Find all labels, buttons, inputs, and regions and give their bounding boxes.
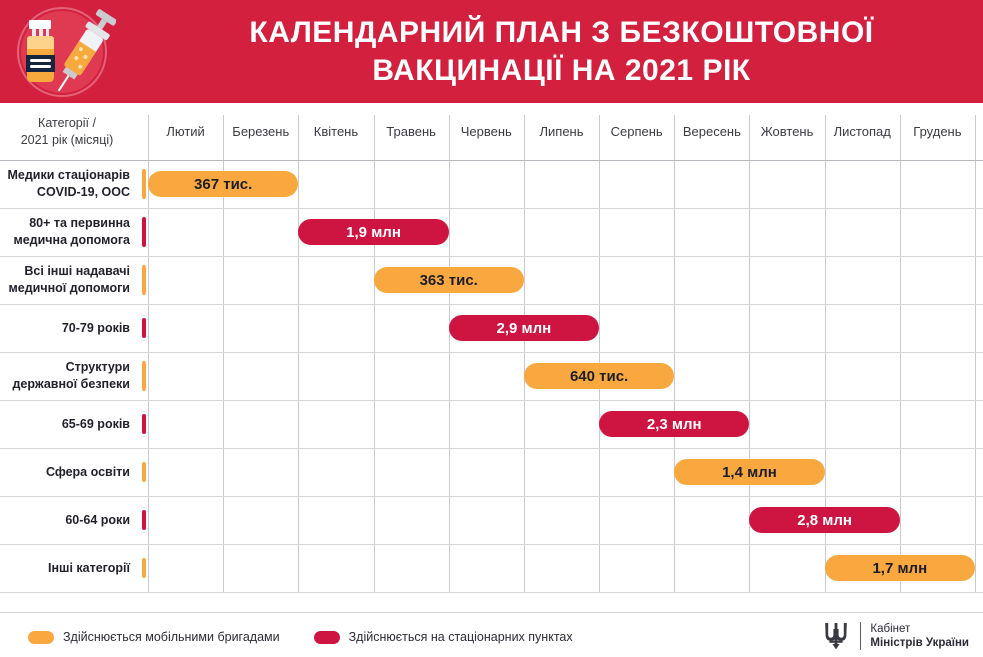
logo-divider <box>860 622 861 650</box>
row-type-marker <box>142 414 146 434</box>
row-type-marker <box>142 217 146 247</box>
row-label: 70-79 років <box>0 304 134 352</box>
table-row: 60-64 роки2,8 млн <box>0 496 983 544</box>
schedule-bar[interactable]: 1,7 млн <box>825 555 975 581</box>
row-label-line-1: 70-79 років <box>62 320 130 337</box>
title-line-1: КАЛЕНДАРНИЙ ПЛАН З БЕЗКОШТОВНОЇ <box>249 15 873 50</box>
table-row: Структуридержавної безпеки640 тис. <box>0 352 983 400</box>
row-label: Сфера освіти <box>0 448 134 496</box>
table-row: 70-79 років2,9 млн <box>0 304 983 352</box>
row-label: 65-69 років <box>0 400 134 448</box>
schedule-bar[interactable]: 1,4 млн <box>674 459 824 485</box>
legend-label-static: Здійснюється на стаціонарних пунктах <box>349 630 573 644</box>
schedule-bar[interactable]: 2,8 млн <box>749 507 899 533</box>
page-title: КАЛЕНДАРНИЙ ПЛАН З БЕЗКОШТОВНОЇ ВАКЦИНАЦ… <box>140 0 983 103</box>
legend-item-static: Здійснюється на стаціонарних пунктах <box>314 630 573 644</box>
row-label-line-1: Інші категорії <box>48 560 130 577</box>
schedule-bar[interactable]: 640 тис. <box>524 363 674 389</box>
table-row: Медики стаціонарівCOVID-19, ООС367 тис. <box>0 160 983 208</box>
column-header-серпень: Серпень <box>599 103 674 160</box>
ukraine-trident-icon <box>821 620 851 652</box>
legend-label-mobile: Здійснюється мобільними бригадами <box>63 630 280 644</box>
legend-swatch-mobile-icon <box>28 631 54 644</box>
row-label: Інші категорії <box>0 544 134 592</box>
row-label-line-1: Всі інші надавачі <box>24 263 130 280</box>
row-label: 80+ та первиннамедична допомога <box>0 208 134 256</box>
column-header-жовтень: Жовтень <box>749 103 824 160</box>
row-type-marker <box>142 361 146 391</box>
row-label-line-1: 65-69 років <box>62 416 130 433</box>
row-label-line-2: COVID-19, ООС <box>37 184 130 201</box>
row-label-line-1: Сфера освіти <box>46 464 130 481</box>
row-type-marker <box>142 558 146 578</box>
infographic-page: КАЛЕНДАРНИЙ ПЛАН З БЕЗКОШТОВНОЇ ВАКЦИНАЦ… <box>0 0 983 657</box>
row-type-marker <box>142 462 146 482</box>
row-label-line-2: державної безпеки <box>12 376 130 393</box>
row-label-line-1: 60-64 роки <box>65 512 130 529</box>
column-header-травень: Травень <box>374 103 449 160</box>
column-header-червень: Червень <box>449 103 524 160</box>
column-header-categories: Категорії /2021 рік (місяці) <box>0 103 134 160</box>
row-label-line-1: Медики стаціонарів <box>7 167 130 184</box>
row-label-line-2: медичної допомоги <box>9 280 130 297</box>
schedule-bar[interactable]: 363 тис. <box>374 267 524 293</box>
row-label-line-1: 80+ та первинна <box>29 215 130 232</box>
table-row: Всі інші надавачімедичної допомоги363 ти… <box>0 256 983 304</box>
gov-logo-line-2: Міністрів України <box>870 636 969 650</box>
table-row: 80+ та первиннамедична допомога1,9 млн <box>0 208 983 256</box>
table-row: Інші категорії1,7 млн <box>0 544 983 592</box>
row-type-marker <box>142 510 146 530</box>
row-label-line-1: Структури <box>66 359 130 376</box>
column-header-лютий: Лютий <box>148 103 223 160</box>
schedule-bar[interactable]: 2,9 млн <box>449 315 599 341</box>
row-type-marker <box>142 169 146 199</box>
legend-swatch-static-icon <box>314 631 340 644</box>
grid-row-separator <box>0 592 983 593</box>
government-logo: Кабінет Міністрів України <box>821 620 969 652</box>
column-header-квітень: Квітень <box>298 103 373 160</box>
row-label: 60-64 роки <box>0 496 134 544</box>
row-label: Структуридержавної безпеки <box>0 352 134 400</box>
row-type-marker <box>142 265 146 295</box>
vaccination-schedule-table: Категорії /2021 рік (місяці)ЛютийБерезен… <box>0 103 983 608</box>
title-line-2: ВАКЦИНАЦІЇ НА 2021 РІК <box>372 53 750 88</box>
schedule-bar[interactable]: 367 тис. <box>148 171 298 197</box>
schedule-bar[interactable]: 1,9 млн <box>298 219 448 245</box>
schedule-bar[interactable]: 2,3 млн <box>599 411 749 437</box>
footer-divider <box>0 612 983 613</box>
column-header-грудень: Грудень <box>900 103 975 160</box>
table-row: 65-69 років2,3 млн <box>0 400 983 448</box>
row-label: Медики стаціонарівCOVID-19, ООС <box>0 160 134 208</box>
government-logo-text: Кабінет Міністрів України <box>870 622 969 651</box>
table-row: Сфера освіти1,4 млн <box>0 448 983 496</box>
column-header-липень: Липень <box>524 103 599 160</box>
category-header-line-1: Категорії / <box>21 115 114 132</box>
gov-logo-line-1: Кабінет <box>870 622 969 636</box>
column-header-вересень: Вересень <box>674 103 749 160</box>
vaccine-vial-syringe-icon <box>8 5 116 99</box>
category-header-line-2: 2021 рік (місяці) <box>21 132 114 149</box>
row-type-marker <box>142 318 146 338</box>
column-header-березень: Березень <box>223 103 298 160</box>
legend: Здійснюється мобільними бригадами Здійсн… <box>28 625 573 649</box>
row-label-line-2: медична допомога <box>13 232 130 249</box>
row-label: Всі інші надавачімедичної допомоги <box>0 256 134 304</box>
legend-item-mobile: Здійснюється мобільними бригадами <box>28 630 280 644</box>
column-header-листопад: Листопад <box>825 103 900 160</box>
